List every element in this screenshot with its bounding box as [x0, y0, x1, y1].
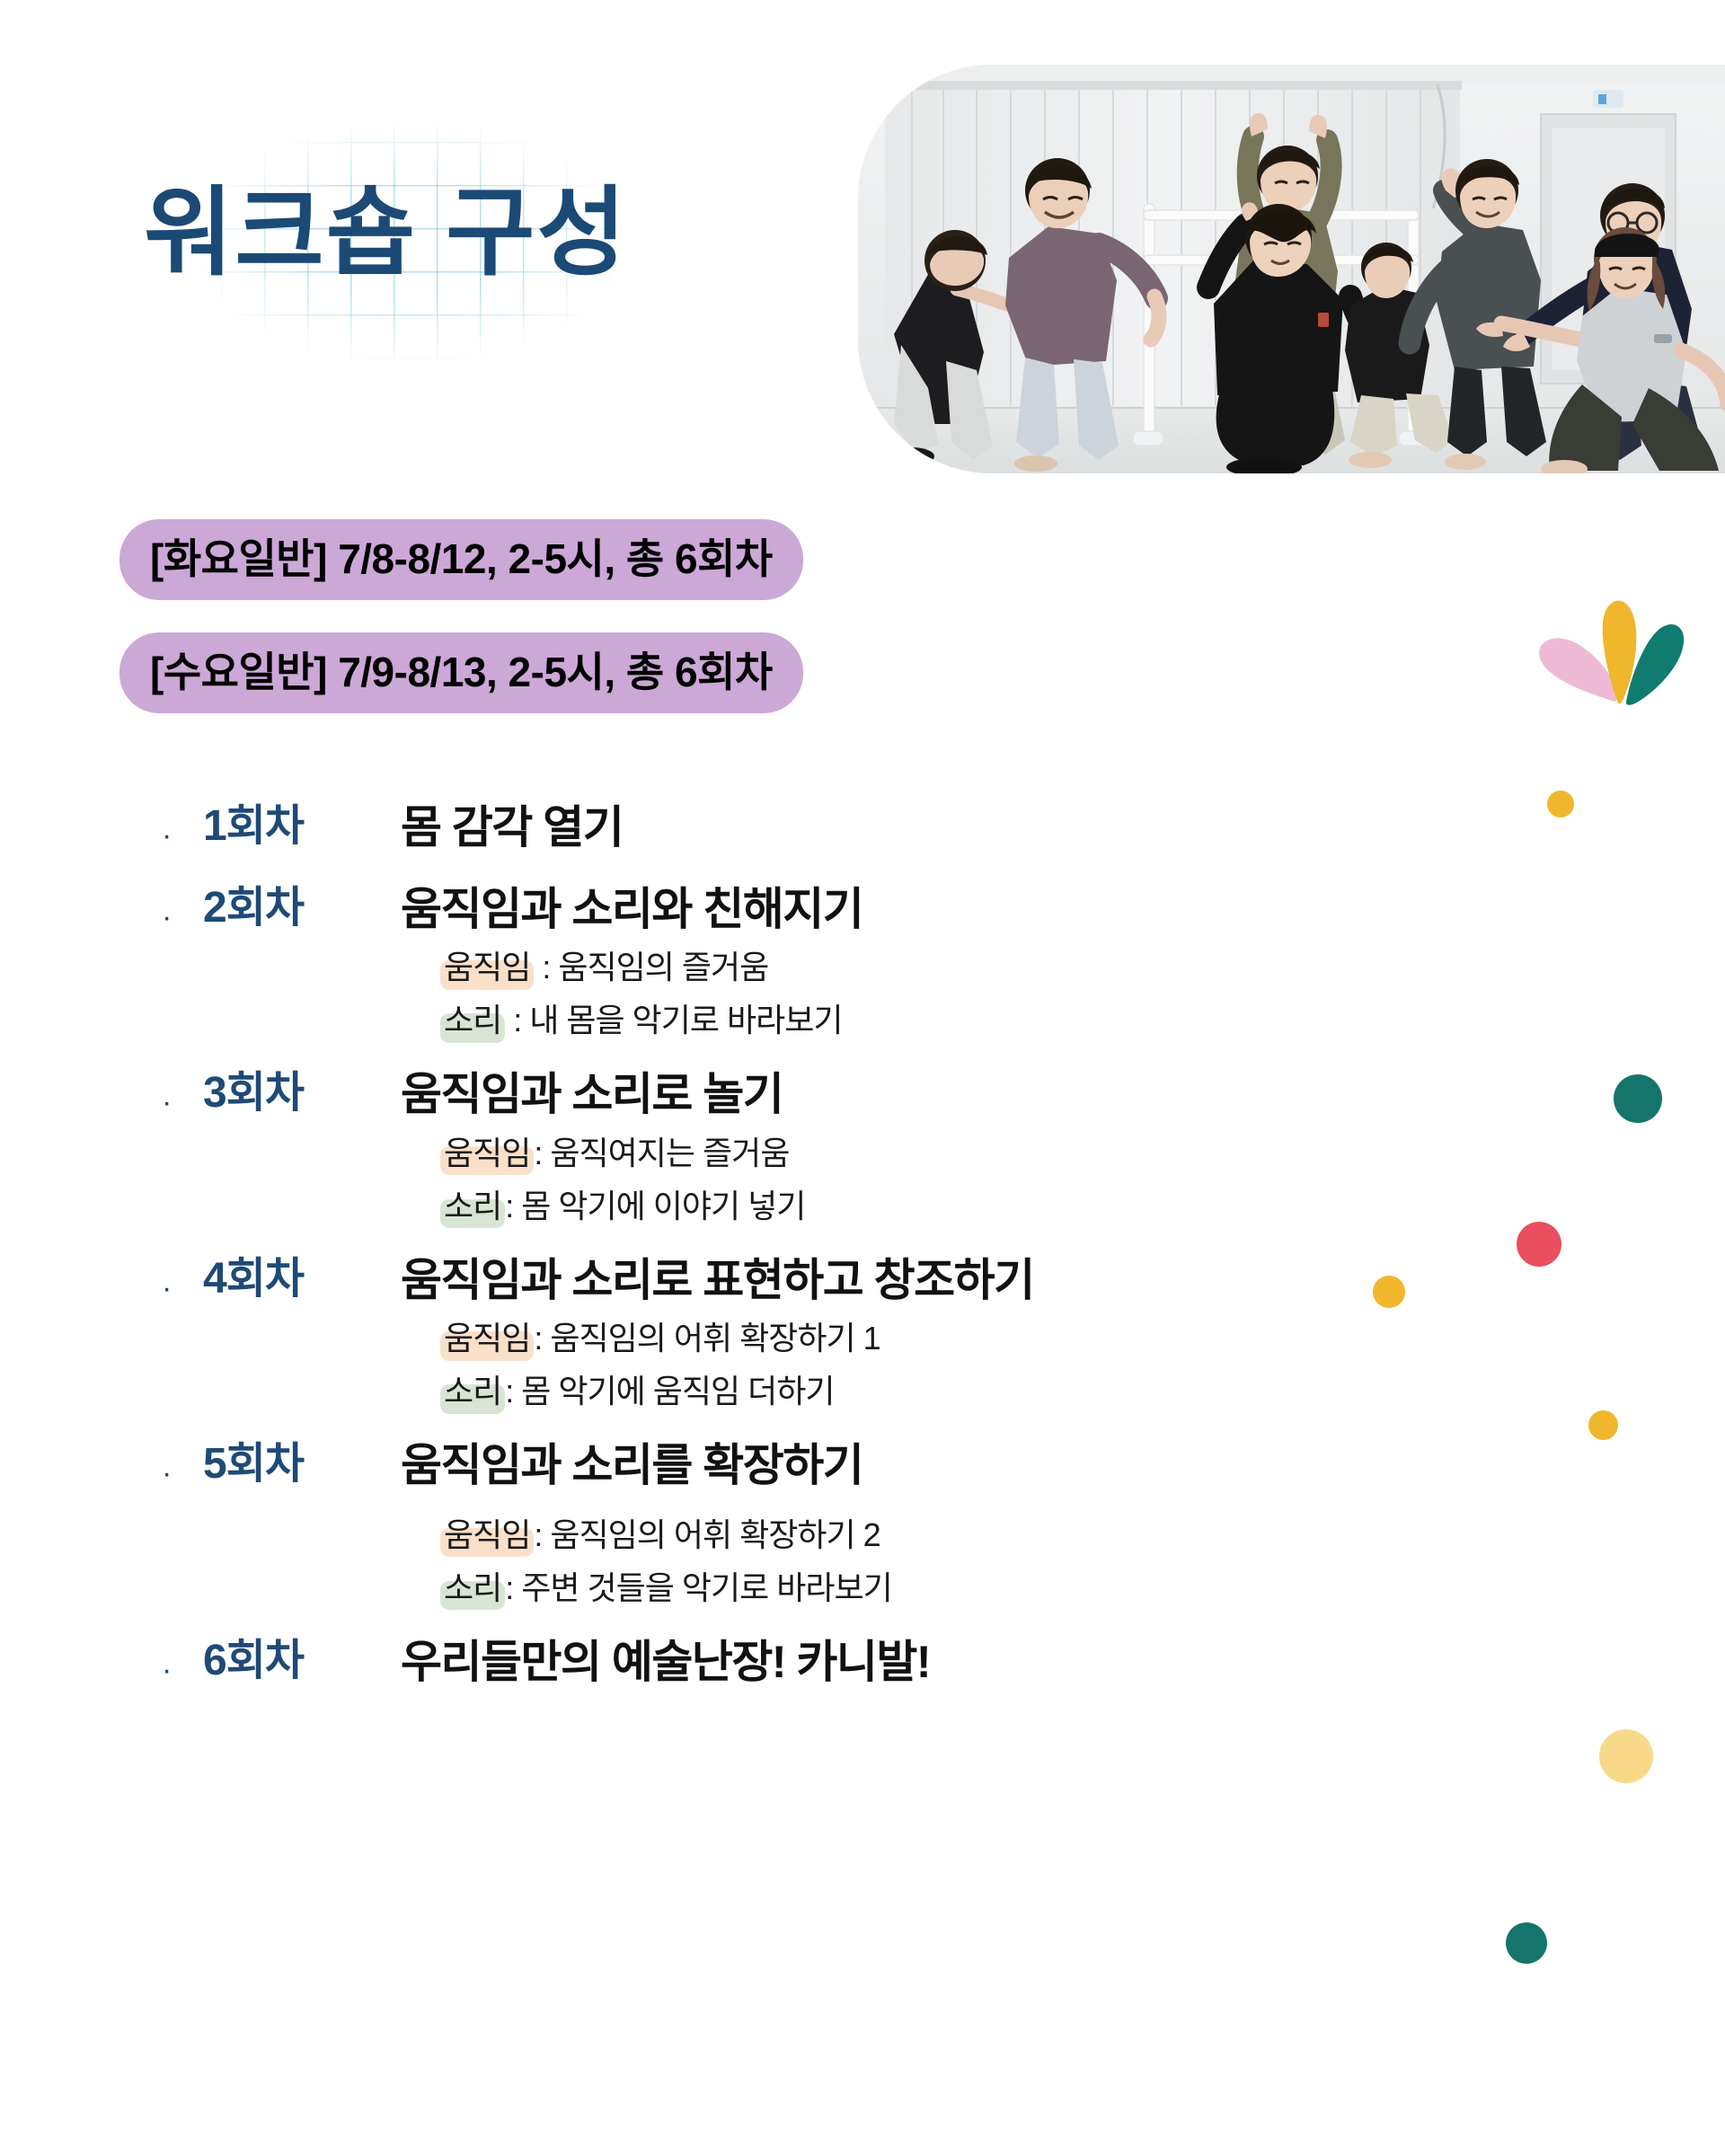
tag-movement: 움직임: [440, 947, 534, 987]
bullet-icon: ·: [162, 1257, 203, 1303]
tag-sound: 소리: [440, 1371, 505, 1411]
subitem-text: : 움직임의 어휘 확장하기 2: [534, 1516, 880, 1553]
session-subitems: 움직임: 움직임의 어휘 확장하기 2 소리: 주변 것들을 악기로 바라보기: [440, 1515, 1725, 1608]
session-title: 움직임과 소리와 친해지기: [401, 886, 862, 933]
subitem-text: : 몸 악기에 이야기 넣기: [505, 1188, 805, 1224]
dot-cream-1: [1599, 1729, 1653, 1783]
session-subitem: 소리: 몸 악기에 움직임 더하기: [440, 1371, 1725, 1411]
workshop-poster: 워크숍 구성: [0, 0, 1725, 2156]
session-subitem: 소리 : 내 몸을 악기로 바라보기: [440, 1000, 1725, 1040]
session-item-3: · 3회차 움직임과 소리로 놀기 움직임: 움직여지는 즐거움 소리: 몸 악…: [0, 1071, 1725, 1226]
session-number: 6회차: [203, 1639, 401, 1683]
session-subitem: 움직임 : 움직임의 즐거움: [440, 947, 1725, 987]
session-subitem: 소리: 몸 악기에 이야기 넣기: [440, 1186, 1725, 1226]
session-item-2: · 2회차 움직임과 소리와 친해지기 움직임 : 움직임의 즐거움 소리 : …: [0, 886, 1725, 1041]
session-subitem: 움직임: 움직여지는 즐거움: [440, 1133, 1725, 1173]
bullet-icon: ·: [162, 1071, 203, 1118]
tag-movement: 움직임: [440, 1318, 534, 1358]
session-title: 움직임과 소리로 표현하고 창조하기: [401, 1257, 1034, 1304]
session-item-1: · 1회차 몸 감각 열기: [0, 804, 1725, 852]
petal-teal: [1626, 624, 1684, 705]
bullet-icon: ·: [162, 1442, 203, 1489]
bullet-icon: ·: [162, 804, 203, 851]
session-list: · 1회차 몸 감각 열기 · 2회차 움직임과 소리와 친해지기 움직임 : …: [0, 804, 1725, 1685]
subitem-text: : 몸 악기에 움직임 더하기: [505, 1373, 834, 1409]
session-subitems: 움직임 : 움직임의 즐거움 소리 : 내 몸을 악기로 바라보기: [440, 947, 1725, 1040]
page-title: 워크숍 구성: [144, 184, 628, 281]
session-item-6: · 6회차 우리들만의 예술난장! 카니발!: [0, 1639, 1725, 1686]
session-subitem: 소리: 주변 것들을 악기로 바라보기: [440, 1568, 1725, 1608]
schedule-badge-tuesday: [화요일반] 7/8-8/12, 2-5시, 총 6회차: [119, 519, 803, 600]
session-item-5: · 5회차 움직임과 소리를 확장하기 움직임: 움직임의 어휘 확장하기 2 …: [0, 1442, 1725, 1608]
tag-sound: 소리: [440, 1568, 505, 1608]
dot-teal-2: [1506, 1922, 1547, 1964]
tag-movement: 움직임: [440, 1133, 534, 1173]
session-title: 몸 감각 열기: [401, 804, 623, 852]
session-item-4: · 4회차 움직임과 소리로 표현하고 창조하기 움직임: 움직임의 어휘 확장…: [0, 1257, 1725, 1412]
session-number: 5회차: [203, 1442, 401, 1487]
subitem-text: : 움직여지는 즐거움: [534, 1135, 789, 1171]
subitem-text: : 움직임의 어휘 확장하기 1: [534, 1320, 880, 1356]
bullet-icon: ·: [162, 886, 203, 932]
subitem-text: : 움직임의 즐거움: [534, 949, 768, 985]
subitem-text: : 주변 것들을 악기로 바라보기: [505, 1569, 891, 1606]
session-title: 우리들만의 예술난장! 카니발!: [401, 1639, 930, 1686]
session-title: 움직임과 소리로 놀기: [401, 1071, 783, 1118]
session-subitems: 움직임: 움직임의 어휘 확장하기 1 소리: 몸 악기에 움직임 더하기: [440, 1318, 1725, 1411]
session-number: 1회차: [203, 804, 401, 849]
session-subitems: 움직임: 움직여지는 즐거움 소리: 몸 악기에 이야기 넣기: [440, 1133, 1725, 1226]
tag-movement: 움직임: [440, 1515, 534, 1555]
session-subitem: 움직임: 움직임의 어휘 확장하기 2: [440, 1515, 1725, 1555]
workshop-dance-studio-photo: [858, 65, 1725, 473]
photo-illustration: [858, 65, 1725, 473]
tag-sound: 소리: [440, 1000, 505, 1040]
session-number: 3회차: [203, 1071, 401, 1116]
session-title: 움직임과 소리를 확장하기: [401, 1442, 862, 1489]
session-number: 2회차: [203, 886, 401, 931]
tag-sound: 소리: [440, 1186, 505, 1226]
bullet-icon: ·: [162, 1639, 203, 1685]
subitem-text: : 내 몸을 악기로 바라보기: [505, 1002, 842, 1038]
schedule-badge-wednesday: [수요일반] 7/9-8/13, 2-5시, 총 6회차: [119, 632, 803, 713]
petal-pink: [1539, 638, 1617, 702]
petal-amber: [1603, 601, 1637, 704]
splash-petals-icon: [1527, 588, 1698, 723]
session-number: 4회차: [203, 1257, 401, 1302]
session-subitem: 움직임: 움직임의 어휘 확장하기 1: [440, 1318, 1725, 1358]
